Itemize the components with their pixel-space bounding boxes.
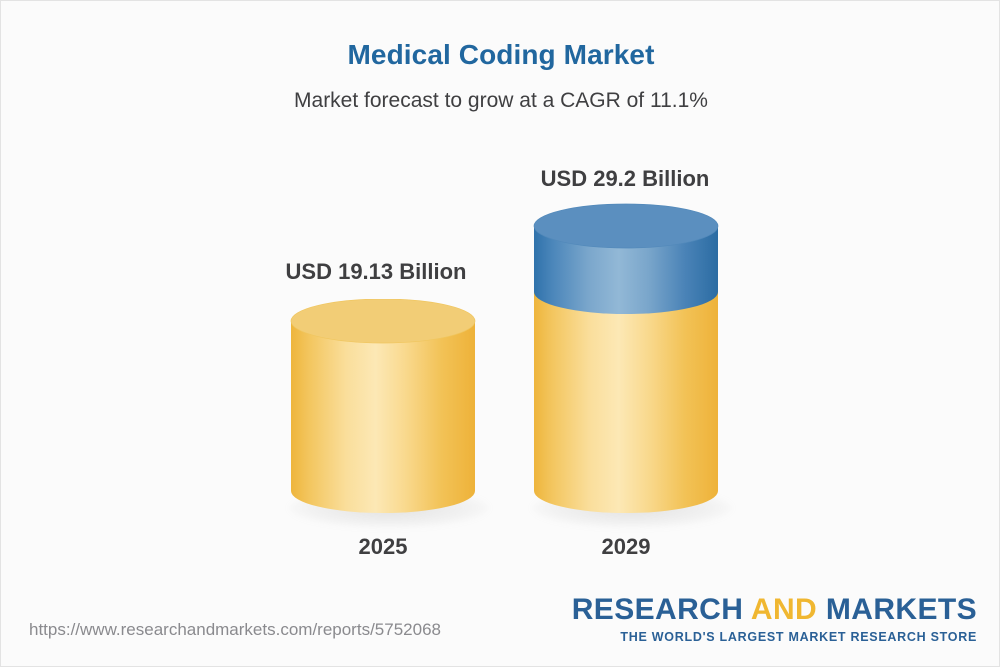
value-label-2029: USD 29.2 Billion [465,166,785,192]
brand-logo[interactable]: RESEARCH AND MARKETS THE WORLD'S LARGEST… [572,595,977,644]
cylinder-2029 [526,197,726,527]
value-label-2025: USD 19.13 Billion [216,259,536,285]
brand-logo-markets: MARKETS [817,593,977,626]
category-label-2029: 2029 [466,534,786,560]
plot-area: USD 19.13 Billion 2025 U [1,1,1000,601]
chart-canvas: Medical Coding Market Market forecast to… [0,0,1000,667]
cylinder-2025 [283,299,483,527]
brand-logo-research: RESEARCH [572,593,751,626]
brand-logo-tagline: THE WORLD'S LARGEST MARKET RESEARCH STOR… [572,630,977,644]
brand-logo-wordmark: RESEARCH AND MARKETS [572,595,977,625]
source-url[interactable]: https://www.researchandmarkets.com/repor… [29,620,441,640]
brand-logo-and: AND [751,593,817,626]
